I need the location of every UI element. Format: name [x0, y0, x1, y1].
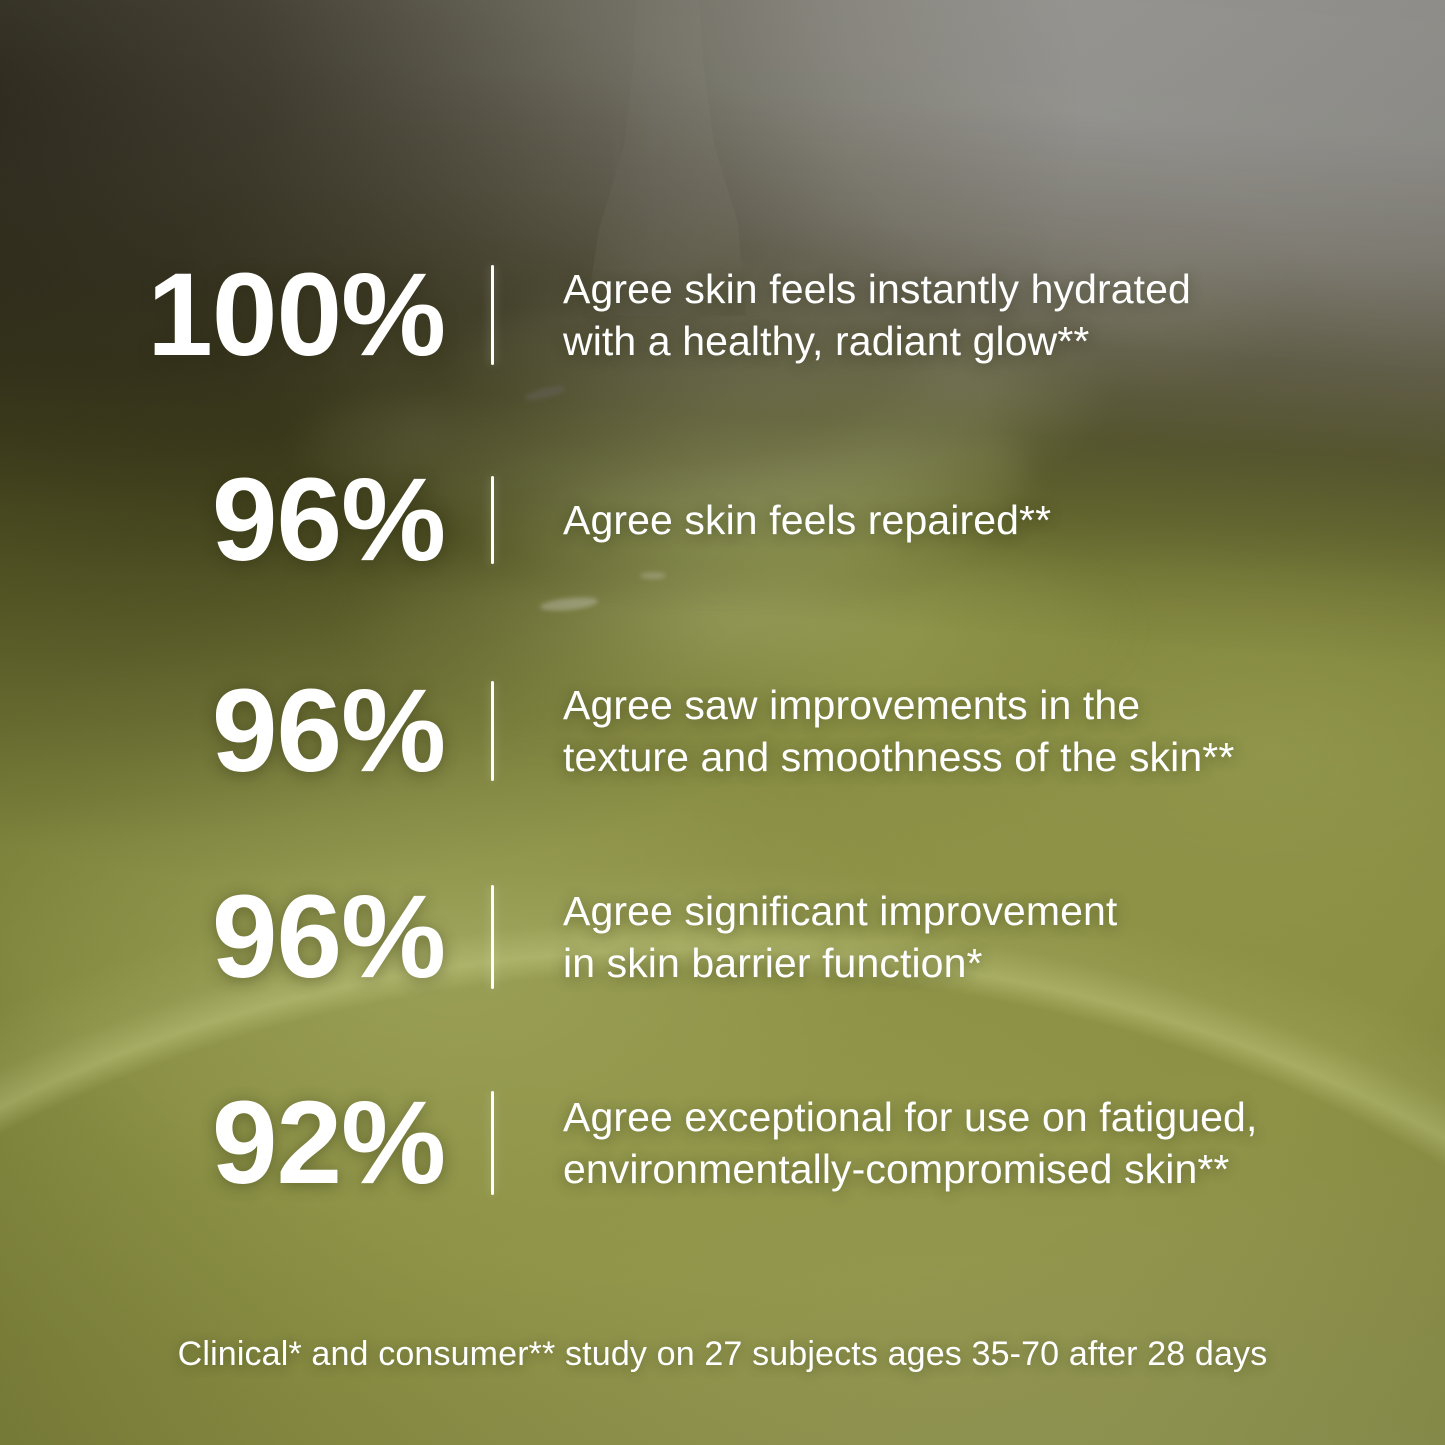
stat-divider	[491, 265, 494, 365]
stat-row: 96% Agree saw improvements in the textur…	[0, 668, 1445, 794]
stat-claim: Agree skin feels instantly hydrated with…	[563, 263, 1191, 368]
stat-divider	[491, 885, 494, 989]
claims-list: 100% Agree skin feels instantly hydrated…	[0, 0, 1445, 1445]
stat-claim: Agree exceptional for use on fatigued, e…	[563, 1091, 1257, 1196]
stat-divider	[491, 681, 494, 781]
stat-divider	[491, 1091, 494, 1195]
stat-row: 92% Agree exceptional for use on fatigue…	[0, 1080, 1445, 1206]
stat-claim: Agree significant improvement in skin ba…	[563, 885, 1117, 990]
stat-percent: 96%	[0, 461, 445, 579]
stat-percent: 92%	[0, 1084, 445, 1202]
stat-claim: Agree saw improvements in the texture an…	[563, 679, 1234, 784]
stat-row: 96% Agree skin feels repaired**	[0, 462, 1445, 578]
stat-claim: Agree skin feels repaired**	[563, 494, 1051, 546]
stat-row: 100% Agree skin feels instantly hydrated…	[0, 252, 1445, 378]
study-footnote: Clinical* and consumer** study on 27 sub…	[0, 1334, 1445, 1375]
infographic-canvas: 100% Agree skin feels instantly hydrated…	[0, 0, 1445, 1445]
stat-percent: 96%	[0, 878, 445, 996]
stat-percent: 96%	[0, 672, 445, 790]
stat-percent: 100%	[0, 256, 445, 374]
stat-row: 96% Agree significant improvement in ski…	[0, 874, 1445, 1000]
stat-divider	[491, 476, 494, 564]
